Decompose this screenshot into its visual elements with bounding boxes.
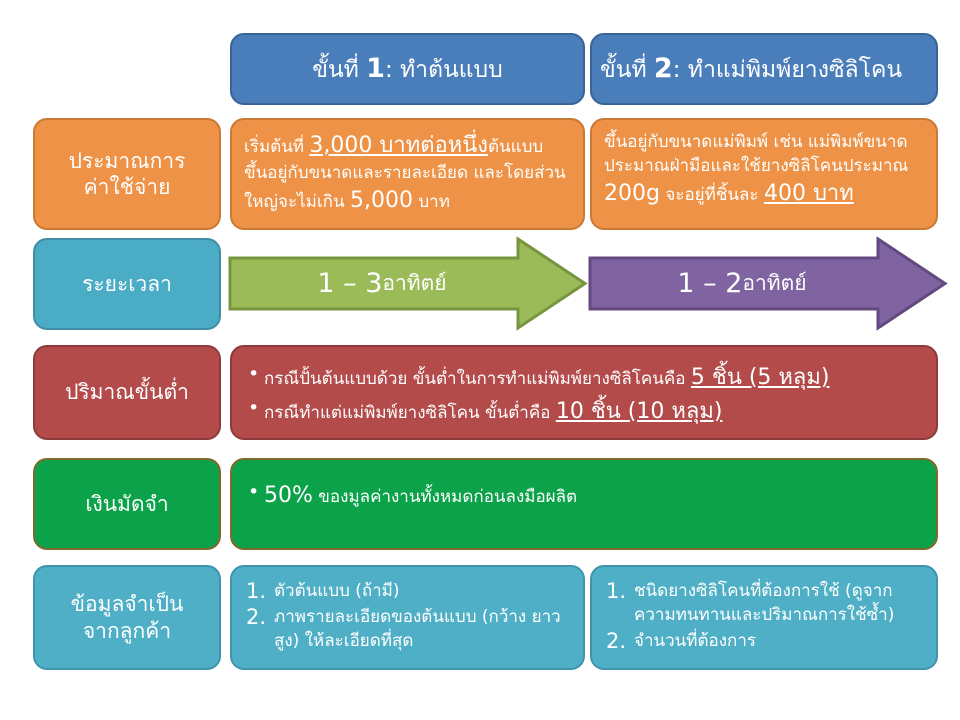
cost-step-2-t1: ขึ้นอยู่กับขนาดแม่พิมพ์ เช่น แม่พิมพ์ขนา… [604,132,908,176]
deposit-text: ของมูลค่างานทั้งหมดก่อนลงมือผลิต [313,487,577,507]
row-label-minimum-text: ปริมาณขั้นต่ำ [65,379,189,405]
row-label-cost: ประมาณการ ค่าใช้จ่าย [33,118,221,230]
process-diagram: ขั้นที่ 1: ทำต้นแบบ ขั้นที่ 2: ทำแม่พิมพ… [0,0,960,720]
minimum-bullet-2: กรณีทำแต่แม่พิมพ์ยางซิลิโคน ขั้นต่ำคือ 1… [264,396,924,427]
step-2-number: 2 [654,53,673,84]
required-info-step-1-cell: ตัวต้นแบบ (ถ้ามี) ภาพรายละเอียดของต้นแบบ… [230,565,585,670]
minimum-cell: กรณีปั้นต้นแบบด้วย ขั้นต่ำในการทำแม่พิมพ… [230,345,938,440]
arrow-purple-shape [588,236,948,331]
cost-step-2-text: ขึ้นอยู่กับขนาดแม่พิมพ์ เช่น แม่พิมพ์ขนา… [604,130,924,209]
minimum-bullet-1-qty: 5 ชิ้น (5 หลุม) [691,365,830,390]
cost-step-2-cell: ขึ้นอยู่กับขนาดแม่พิมพ์ เช่น แม่พิมพ์ขนา… [590,118,938,230]
step-1-header-text: ขั้นที่ 1: ทำต้นแบบ [312,53,503,84]
deposit-bullet-list: 50% ของมูลค่างานทั้งหมดก่อนลงมือผลิต [244,478,924,513]
cost-step-1-cell: เริ่มต้นที่ 3,000 บาทต่อหนึ่งต้นแบบ ขึ้น… [230,118,585,230]
required-info-step-2-item-1: ชนิดยางซิลิโคนที่ต้องการใช้ (ดูจากความทน… [604,579,924,627]
cost-step-1-unit: บาท [413,192,450,212]
arrow-green-shape [228,236,588,331]
row-label-cost-line1: ประมาณการ [69,148,186,174]
row-label-duration: ระยะเวลา [33,238,221,330]
row-label-minimum: ปริมาณขั้นต่ำ [33,345,221,440]
duration-step-2-arrow: 1 – 2 อาทิตย์ [588,236,948,331]
cost-step-1-text: เริ่มต้นที่ 3,000 บาทต่อหนึ่งต้นแบบ ขึ้น… [244,130,571,217]
cost-step-1-max: 5,000 [350,188,413,213]
required-info-step-1-item-1: ตัวต้นแบบ (ถ้ามี) [244,579,571,603]
step-2-suffix: : ทำแม่พิมพ์ยางซิลิโคน [673,57,902,83]
row-label-required-info-line1: ข้อมูลจำเป็น [71,591,184,617]
minimum-bullet-2-qty: 10 ชิ้น (10 หลุม) [556,399,723,424]
minimum-bullet-1-t1: กรณีปั้นต้นแบบด้วย ขั้นต่ำในการทำแม่พิมพ… [264,369,691,389]
step-2-prefix: ขั้นที่ [600,57,654,83]
required-info-step-1-item-2: ภาพรายละเอียดของต้นแบบ (กว้าง ยาว สูง) ใ… [244,605,571,653]
cost-step-2-amount: 400 บาท [764,181,854,206]
minimum-bullet-1: กรณีปั้นต้นแบบด้วย ขั้นต่ำในการทำแม่พิมพ… [264,362,924,393]
row-label-duration-text: ระยะเวลา [82,271,172,297]
row-label-deposit: เงินมัดจำ [33,458,221,550]
step-1-number: 1 [366,53,385,84]
required-info-step-2-list: ชนิดยางซิลิโคนที่ต้องการใช้ (ดูจากความทน… [604,577,924,655]
step-1-suffix: : ทำต้นแบบ [385,57,503,83]
step-1-prefix: ขั้นที่ [312,57,366,83]
deposit-cell: 50% ของมูลค่างานทั้งหมดก่อนลงมือผลิต [230,458,938,550]
row-label-required-info: ข้อมูลจำเป็น จากลูกค้า [33,565,221,670]
minimum-bullet-2-t1: กรณีทำแต่แม่พิมพ์ยางซิลิโคน ขั้นต่ำคือ [264,403,556,423]
row-label-cost-line2: ค่าใช้จ่าย [84,174,171,200]
cost-step-1-amount: 3,000 บาทต่อหนึ่ง [309,133,488,158]
deposit-percent: 50% [264,483,313,508]
minimum-bullet-list: กรณีปั้นต้นแบบด้วย ขั้นต่ำในการทำแม่พิมพ… [244,360,924,428]
cost-step-1-t1: เริ่มต้นที่ [244,137,309,157]
step-1-header: ขั้นที่ 1: ทำต้นแบบ [230,33,585,105]
deposit-bullet-1: 50% ของมูลค่างานทั้งหมดก่อนลงมือผลิต [264,480,924,511]
duration-step-1-arrow: 1 – 3 อาทิตย์ [228,236,588,331]
required-info-step-2-item-2: จำนวนที่ต้องการ [604,629,924,653]
row-label-deposit-text: เงินมัดจำ [85,491,168,517]
row-label-required-info-line2: จากลูกค้า [83,618,171,644]
required-info-step-2-cell: ชนิดยางซิลิโคนที่ต้องการใช้ (ดูจากความทน… [590,565,938,670]
cost-step-2-t3: จะอยู่ที่ชิ้นละ [660,185,764,205]
cost-step-2-weight: 200g [604,181,660,206]
step-2-header: ขั้นที่ 2: ทำแม่พิมพ์ยางซิลิโคน [590,33,938,105]
step-2-header-text: ขั้นที่ 2: ทำแม่พิมพ์ยางซิลิโคน [600,53,902,84]
required-info-step-1-list: ตัวต้นแบบ (ถ้ามี) ภาพรายละเอียดของต้นแบบ… [244,577,571,655]
